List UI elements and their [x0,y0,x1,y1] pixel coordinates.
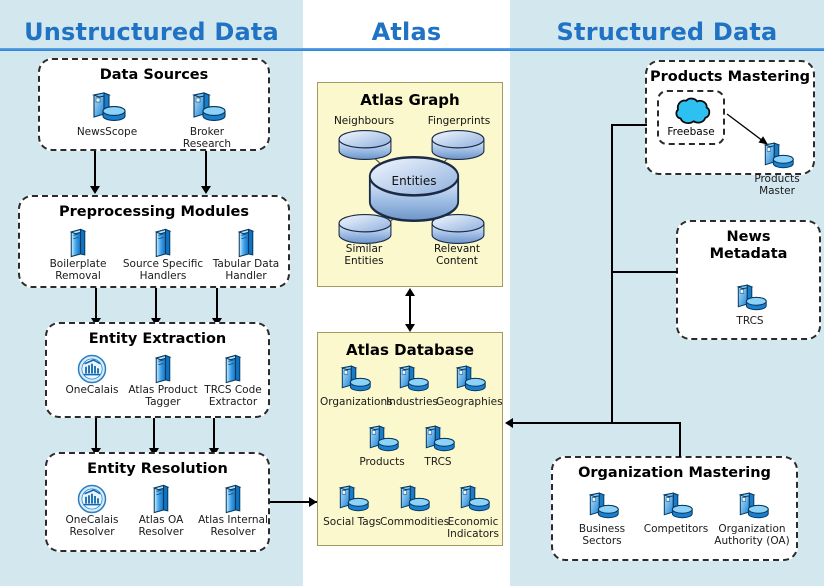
node-products[interactable]: Products [351,425,413,469]
node-label: Boilerplate Removal [36,259,120,282]
arrowhead [201,186,211,194]
diagram-canvas: Unstructured Data Atlas Structured Data [0,0,824,586]
server-database-icon [455,485,491,516]
arrowhead [405,324,415,332]
node-products-master[interactable]: Products Master [737,142,817,197]
server-database-icon [87,92,127,126]
node-competitors[interactable]: Competitors [638,492,714,536]
arrowhead [90,186,100,194]
connector-datasources-to-preprocessing-1 [94,151,96,188]
connector-newsmetadata-to-bus [611,271,678,273]
connector-extraction-to-resolution-3 [213,418,215,450]
cylinder-label-relevant-content: Relevant Content [418,244,496,267]
node-tabular-data-handler[interactable]: Tabular Data Handler [204,228,288,282]
server-database-icon [759,142,795,173]
node-newsscope[interactable]: NewsScope [62,92,152,139]
header-rule-middle [303,48,510,51]
group-preprocessing-modules[interactable]: Preprocessing Modules Boilerplate Remova… [18,195,290,288]
server-database-icon [734,492,770,523]
book-module-icon [152,354,174,384]
node-broker-research[interactable]: Broker Research [162,92,252,150]
book-module-icon [152,228,174,258]
panel-title-atlas-database: Atlas Database [318,341,502,359]
group-title-data-sources: Data Sources [40,67,268,84]
node-business-sectors[interactable]: Business Sectors [565,492,639,547]
cylinder-label-neighbours: Neighbours [324,116,404,128]
node-label: Economic Indicators [442,517,504,540]
node-label: TRCS [410,457,466,469]
node-trcs-news[interactable]: TRCS [713,284,787,328]
connector-productsmastering-to-bus [611,124,647,126]
node-label: OneCalais Resolver [55,515,129,538]
cylinder-icon-entities [368,156,460,222]
node-atlas-internal-resolver[interactable]: Atlas Internal Resolver [193,484,273,538]
cylinder-label-similar-entities: Similar Entities [326,244,402,267]
node-economic-indicators[interactable]: Economic Indicators [442,485,504,540]
freebase-blob-icon [672,96,714,126]
node-atlas-oa-resolver[interactable]: Atlas OA Resolver [123,484,199,538]
connector-preprocessing-to-extraction-3 [216,288,218,320]
group-entity-resolution[interactable]: Entity Resolution OneCalais Resolver Atl… [45,452,270,552]
server-database-icon [336,365,372,396]
cylinder-label-fingerprints: Fingerprints [418,116,500,128]
server-database-icon [187,92,227,126]
node-organization-authority[interactable]: Organization Authority (OA) [710,492,794,547]
node-label: Geographies [436,397,502,409]
node-label: NewsScope [62,127,152,139]
node-label: Atlas OA Resolver [123,515,199,538]
node-industries[interactable]: Industries [382,365,442,409]
node-atlas-product-tagger[interactable]: Atlas Product Tagger [123,354,203,408]
onecalais-circle-icon [77,484,107,514]
group-title-products-mastering: Products Mastering [647,69,813,86]
server-database-icon [584,492,620,523]
header-rule-right [510,48,824,51]
node-label: Products [351,457,413,469]
onecalais-circle-icon [77,354,107,384]
book-module-icon [235,228,257,258]
node-label: Business Sectors [565,524,639,547]
node-label: Social Tags [321,517,383,529]
group-news-metadata[interactable]: News Metadata TRCS [676,220,821,340]
group-title-preprocessing-modules: Preprocessing Modules [20,204,288,221]
node-label: OneCalais [55,385,129,397]
book-module-icon [67,228,89,258]
group-title-news-metadata: News Metadata [678,229,819,263]
node-label: Tabular Data Handler [204,259,288,282]
node-label: Products Master [737,174,817,197]
connector-extraction-to-resolution-2 [153,418,155,450]
node-label: TRCS Code Extractor [195,385,271,408]
node-label: Organizations [320,397,388,409]
book-module-icon [222,354,244,384]
node-geographies[interactable]: Geographies [436,365,502,409]
connector-bus-vertical-lower [611,271,613,423]
node-trcs[interactable]: TRCS [410,425,466,469]
server-database-icon [658,492,694,523]
group-organization-mastering[interactable]: Organization Mastering Business Sectors … [551,456,798,561]
node-label: Industries [382,397,442,409]
node-label: Atlas Product Tagger [123,385,203,408]
node-onecalais[interactable]: OneCalais [55,354,129,397]
arrowhead [309,497,317,507]
node-onecalais-resolver[interactable]: OneCalais Resolver [55,484,129,538]
node-trcs-code-extractor[interactable]: TRCS Code Extractor [195,354,271,408]
column-title-unstructured: Unstructured Data [0,17,303,49]
group-products-mastering[interactable]: Products Mastering Freebase Products Mas… [645,60,815,175]
panel-atlas-database[interactable]: Atlas Database Organizations Industries … [317,332,503,546]
connector-extraction-to-resolution-1 [95,418,97,450]
column-title-structured: Structured Data [510,17,824,49]
node-label: Source Specific Handlers [121,259,205,282]
group-title-entity-resolution: Entity Resolution [47,461,268,478]
node-boilerplate-removal[interactable]: Boilerplate Removal [36,228,120,282]
subgroup-freebase[interactable]: Freebase [657,90,725,145]
node-label: Competitors [638,524,714,536]
header-rule-left [0,48,303,51]
group-title-organization-mastering: Organization Mastering [553,465,796,482]
connector-preprocessing-to-extraction-1 [95,288,97,320]
node-label-freebase: Freebase [659,126,723,138]
node-label: TRCS [713,316,787,328]
group-entity-extraction[interactable]: Entity Extraction OneCalais Atlas Produc… [45,322,270,418]
node-commodities[interactable]: Commodities [380,485,446,529]
arrowhead [505,418,513,428]
connector-bus-to-atlasdb [513,422,680,424]
server-database-icon [451,365,487,396]
connector-graph-database [409,295,411,325]
node-label: Commodities [380,517,446,529]
connector-datasources-to-preprocessing-2 [205,151,207,188]
node-organizations[interactable]: Organizations [320,365,388,409]
connector-orgmastering-to-bus [679,422,681,457]
server-database-icon [394,365,430,396]
node-label: Organization Authority (OA) [710,524,794,547]
node-label: Atlas Internal Resolver [193,515,273,538]
server-database-icon [395,485,431,516]
group-data-sources[interactable]: Data Sources NewsScope Broker Research [38,58,270,151]
panel-atlas-graph[interactable]: Atlas Graph Neighbours Fingerprints Simi… [317,82,503,287]
book-module-icon [222,484,244,514]
server-database-icon [334,485,370,516]
group-title-entity-extraction: Entity Extraction [47,331,268,348]
node-source-specific-handlers[interactable]: Source Specific Handlers [121,228,205,282]
cylinder-label-entities: Entities [368,176,460,188]
column-title-atlas: Atlas [303,17,510,49]
server-database-icon [420,425,456,456]
server-database-icon [364,425,400,456]
book-module-icon [150,484,172,514]
connector-preprocessing-to-extraction-2 [155,288,157,320]
arrowhead [405,288,415,296]
server-database-icon [732,284,768,315]
node-label: Broker Research [162,127,252,150]
node-social-tags[interactable]: Social Tags [321,485,383,529]
